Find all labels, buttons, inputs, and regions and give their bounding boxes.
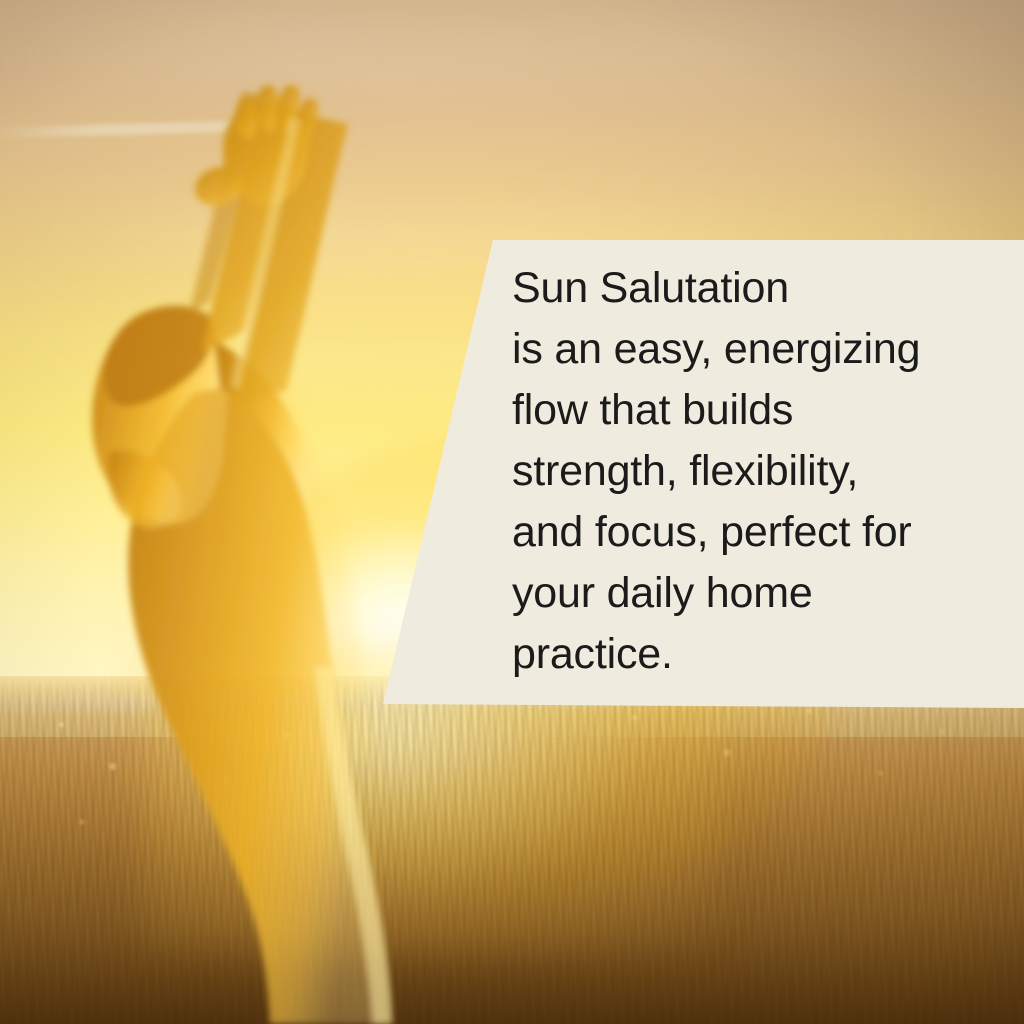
bokeh-sparkles (0, 676, 1024, 1024)
quote-line: strength, flexibility, (512, 441, 982, 502)
quote-line: your daily home (512, 563, 982, 624)
quote-line: is an easy, energizing (512, 319, 982, 380)
quote-line: and focus, perfect for (512, 502, 982, 563)
cloud-band (0, 20, 1024, 92)
quote-line: Sun Salutation (512, 258, 982, 319)
quote-line: practice. (512, 624, 982, 685)
quote-card: Sun Salutation is an easy, energizing fl… (0, 0, 1024, 1024)
quote-line: flow that builds (512, 380, 982, 441)
quote-text: Sun Salutation is an easy, energizing fl… (512, 258, 982, 685)
